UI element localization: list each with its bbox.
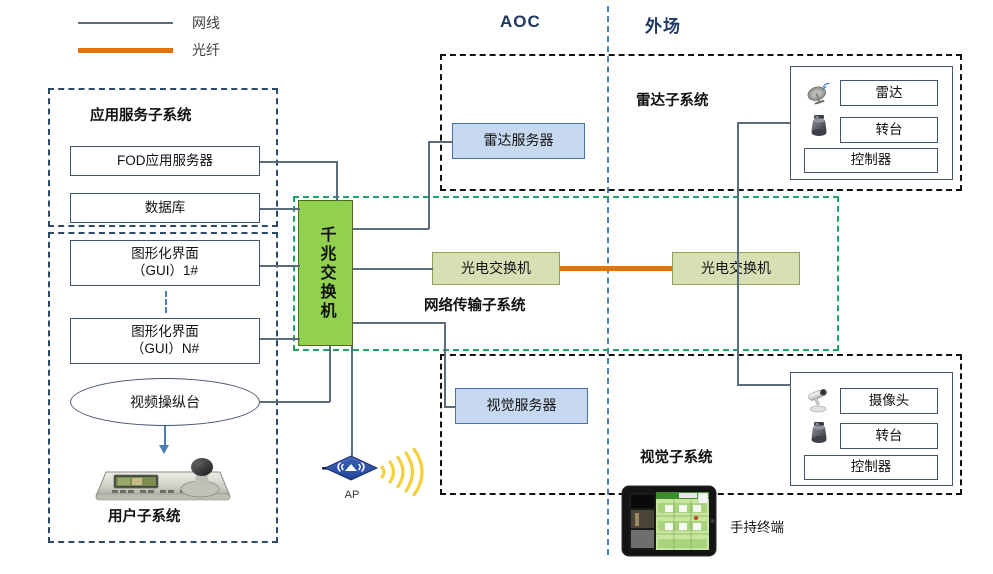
node-label: 视觉服务器 — [487, 397, 557, 415]
wifi-waves-icon — [376, 448, 428, 501]
radar-subsystem-title: 雷达子系统 — [636, 89, 709, 110]
wire-console-to-switch-h — [260, 401, 330, 403]
wire-switch-to-radar-h2 — [428, 141, 453, 143]
legend-fiber-swatch — [78, 48, 173, 53]
node-gigabit-switch[interactable]: 千兆交换机 — [298, 200, 353, 346]
wire-switch-to-radar-v — [428, 141, 430, 229]
wire-switch-to-vision-h2 — [444, 406, 456, 408]
node-label: 视频操纵台 — [130, 392, 200, 412]
joystick-controller-icon — [88, 456, 238, 509]
wire-trunk-to-vision-devices — [737, 384, 791, 386]
console-to-joystick-arrow — [159, 445, 169, 454]
app-service-subsystem-title: 应用服务子系统 — [90, 104, 192, 125]
node-vision-server[interactable]: 视觉服务器 — [455, 388, 588, 424]
wire-switch-to-vision-h1 — [353, 322, 445, 324]
vision-subsystem-title: 视觉子系统 — [640, 446, 713, 467]
satellite-dish-icon — [806, 82, 832, 111]
node-label: 光电交换机 — [701, 260, 771, 278]
ap-label: AP — [337, 489, 367, 501]
tablet-device-icon — [621, 485, 717, 562]
node-label-line1: 图形化界面 — [131, 324, 199, 341]
node-label-line2: （GUI）1# — [132, 263, 198, 280]
node-gui-n[interactable]: 图形化界面 （GUI）N# — [70, 318, 260, 364]
node-vision-camera[interactable]: 摄像头 — [840, 388, 938, 414]
wire-switch-to-opto — [353, 268, 433, 270]
console-to-joystick-line — [164, 426, 166, 446]
pan-tilt-unit-icon — [806, 113, 832, 144]
node-radar-device[interactable]: 雷达 — [840, 80, 938, 106]
zone-label-aoc: AOC — [500, 12, 541, 32]
node-label: 控制器 — [851, 152, 892, 169]
camera-icon — [806, 386, 833, 418]
wire-switch-to-radar-h1 — [353, 228, 429, 230]
wire-database-to-switch — [260, 208, 300, 210]
wire-gui1-to-switch — [260, 265, 300, 267]
network-architecture-diagram: 网线 光纤 AOC 外场 应用服务子系统 FOD应用服务器 数据库 图形化界面 … — [0, 0, 993, 574]
gui-continuation-indicator — [165, 291, 167, 313]
node-label: 摄像头 — [869, 393, 910, 410]
zone-label-field: 外场 — [645, 12, 681, 37]
node-label-line2: （GUI）N# — [131, 341, 199, 358]
network-transmission-subsystem-title: 网络传输子系统 — [424, 294, 526, 315]
wire-fod-to-switch-v — [336, 161, 338, 201]
node-opto-switch-field[interactable]: 光电交换机 — [672, 252, 800, 285]
node-opto-switch-aoc[interactable]: 光电交换机 — [432, 252, 560, 285]
wire-fod-to-switch-h — [260, 161, 337, 163]
legend-wire-swatch — [78, 22, 173, 24]
node-label: 雷达 — [876, 85, 903, 102]
node-radar-turntable[interactable]: 转台 — [840, 117, 938, 143]
node-video-console[interactable]: 视频操纵台 — [70, 378, 260, 426]
wire-switch-to-vision-v — [444, 322, 446, 407]
node-label: FOD应用服务器 — [117, 153, 213, 170]
node-vision-turntable[interactable]: 转台 — [840, 423, 938, 449]
wire-field-trunk — [737, 122, 739, 385]
handheld-terminal-label: 手持终端 — [730, 516, 784, 536]
node-label: 雷达服务器 — [484, 132, 554, 150]
node-label: 转台 — [876, 122, 903, 139]
node-label: 数据库 — [145, 200, 186, 217]
pan-tilt-unit-icon — [806, 420, 832, 451]
node-label: 转台 — [876, 428, 903, 445]
wire-switch-to-ap — [351, 346, 353, 456]
node-database[interactable]: 数据库 — [70, 193, 260, 223]
node-radar-server[interactable]: 雷达服务器 — [452, 123, 585, 159]
node-label: 光电交换机 — [461, 260, 531, 278]
node-label: 控制器 — [851, 459, 892, 476]
node-gui-1[interactable]: 图形化界面 （GUI）1# — [70, 240, 260, 286]
node-label-line1: 图形化界面 — [131, 246, 199, 263]
node-radar-controller[interactable]: 控制器 — [804, 148, 938, 173]
wire-trunk-to-radar-devices — [737, 122, 791, 124]
legend-wire-label: 网线 — [192, 13, 220, 33]
user-subsystem-title: 用户子系统 — [108, 505, 181, 526]
legend-fiber-label: 光纤 — [192, 40, 220, 60]
node-vision-controller[interactable]: 控制器 — [804, 455, 938, 480]
fiber-link — [560, 266, 672, 271]
node-fod-application-server[interactable]: FOD应用服务器 — [70, 146, 260, 176]
wire-guin-to-switch — [260, 338, 300, 340]
node-label: 千兆交换机 — [314, 226, 338, 321]
wire-console-to-switch-v — [329, 346, 331, 402]
